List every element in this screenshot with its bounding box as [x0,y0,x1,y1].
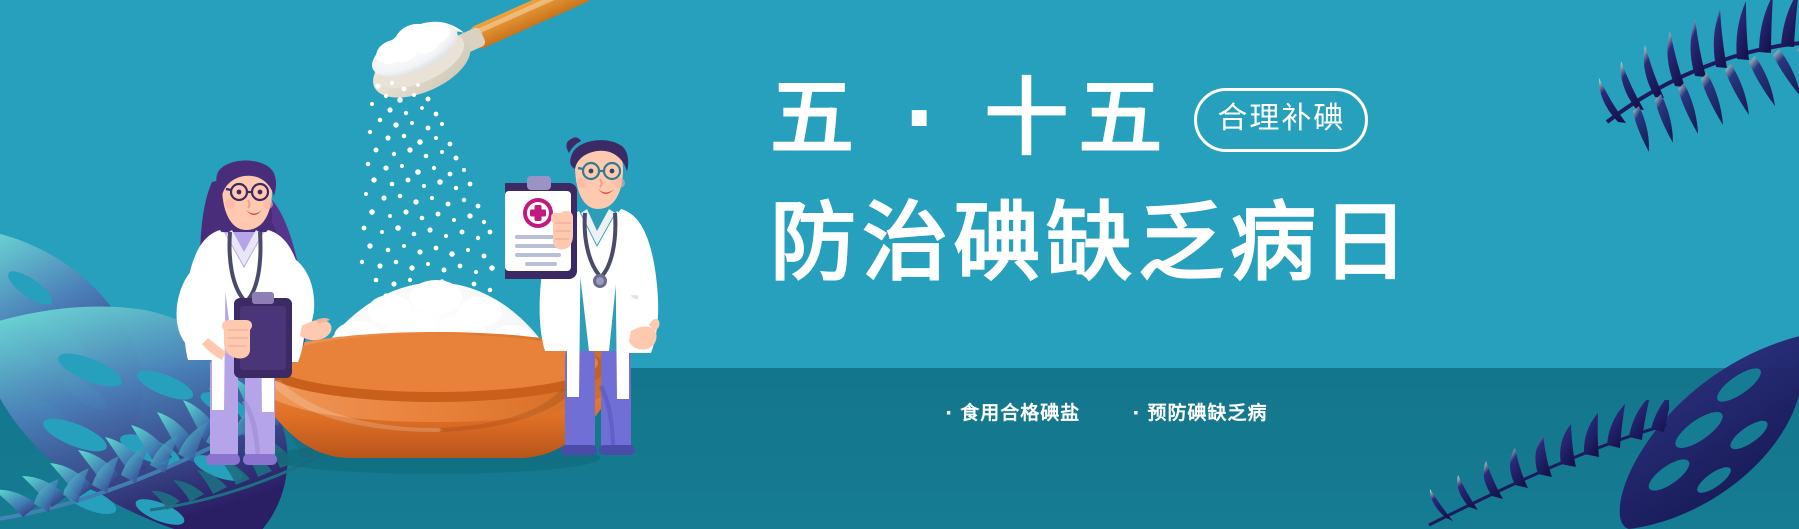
tagline-item: ·食用合格碘盐 [945,398,1080,425]
slogan-badge: 合理补碘 [1194,88,1368,152]
tagline-item: ·预防碘缺乏病 [1132,398,1267,425]
bullet-dot-icon: · [1132,402,1140,424]
main-headline: 防治碘缺乏病日 [770,188,1410,298]
bullet-dot-icon: · [945,402,953,424]
iodine-deficiency-day-banner: 五 · 十五 合理补碘 防治碘缺乏病日 ·食用合格碘盐 ·预防碘缺乏病 [0,0,1799,529]
title-row: 五 · 十五 合理补碘 [770,70,1410,166]
headline-text-block: 五 · 十五 合理补碘 防治碘缺乏病日 [770,70,1410,320]
male-doctor-with-medical-chart [505,135,680,455]
date-title: 五 · 十五 [770,70,1172,166]
palm-frond-top-right [1589,0,1799,157]
palm-frond-bottom-right [1419,400,1669,529]
tagline-label: 食用合格碘盐 [960,402,1080,424]
tagline-label: 预防碘缺乏病 [1147,402,1267,424]
female-doctor-with-clipboard [150,160,335,465]
tagline-row: ·食用合格碘盐 ·预防碘缺乏病 [945,398,1267,425]
